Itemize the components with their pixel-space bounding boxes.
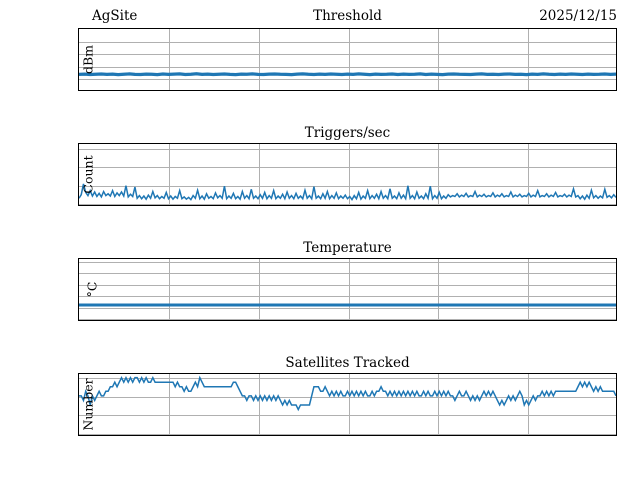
ylabel-temperature: °C [85,249,100,329]
gridline-horizontal [79,42,616,43]
panel-satellites: Satellites Tracked0481204812162024Number [78,0,617,480]
ytick-mark [78,415,79,416]
gridline-vertical [259,29,260,90]
xtick-mark [438,320,439,321]
gridline-vertical [169,259,170,320]
gridline-vertical [438,259,439,320]
ytick-mark [78,79,79,80]
gridline-horizontal [79,415,616,416]
xtick-mark [258,435,259,436]
xtick-mark [348,205,349,206]
gridline-horizontal [79,434,616,435]
site-label: AgSite [92,7,137,25]
ytick-mark [78,66,79,67]
plot-area-triggers: 0400080001200004812162024 [78,143,617,206]
ytick-mark [78,54,79,55]
ytick-mark [78,273,79,274]
ytick-mark [78,296,79,297]
series-layer-satellites [79,374,616,435]
ytick-mark [78,284,79,285]
gridline-horizontal [79,186,616,187]
series-layer-triggers [79,144,616,205]
xtick-mark [348,90,349,91]
xtick-mark [258,320,259,321]
ytick-mark [78,167,79,168]
ytick-mark [78,148,79,149]
ytick-mark [78,41,79,42]
gridline-horizontal [79,204,616,205]
series-layer-temperature [79,259,616,320]
xtick-mark [168,90,169,91]
gridline-horizontal [79,378,616,379]
gridline-vertical [349,144,350,205]
gridline-vertical [528,144,529,205]
gridline-horizontal [79,54,616,55]
ylabel-triggers: Count [81,134,96,214]
gridline-horizontal [79,397,616,398]
panel-triggers: Triggers/sec0400080001200004812162024Cou… [78,0,617,480]
gridline-horizontal [79,167,616,168]
xtick-mark [168,320,169,321]
gridline-horizontal [79,149,616,150]
xtick-mark [79,435,80,436]
ylabel-threshold: dBm [81,19,96,99]
gridline-horizontal [79,296,616,297]
panel-temperature: Temperature−2002040608004812162024°C [78,0,617,480]
gridline-vertical [349,259,350,320]
xtick-mark [348,320,349,321]
ytick-mark [78,377,79,378]
panel-threshold: −100−90−80−70−60−5004812162024dBm [78,0,617,480]
gridline-vertical [528,259,529,320]
xtick-mark [438,435,439,436]
ytick-mark [78,29,79,30]
gridline-vertical [259,259,260,320]
gridline-vertical [349,374,350,435]
xtick-mark [258,90,259,91]
gridline-vertical [169,144,170,205]
figure-main-title: Threshold [313,7,382,25]
xtick-mark [168,205,169,206]
xtick-mark [79,90,80,91]
plot-area-threshold: −100−90−80−70−60−5004812162024 [78,28,617,91]
gridline-vertical [528,374,529,435]
gridline-horizontal [79,285,616,286]
gridline-vertical [528,29,529,90]
xtick-mark [528,320,529,321]
gridline-vertical [438,374,439,435]
gridline-vertical [259,144,260,205]
panel-title-triggers: Triggers/sec [305,125,390,141]
ytick-mark [78,185,79,186]
xtick-mark [79,320,80,321]
gridline-vertical [438,29,439,90]
xtick-mark [438,205,439,206]
gridline-horizontal [79,308,616,309]
ylabel-satellites: Number [81,364,96,444]
panel-title-satellites: Satellites Tracked [285,355,409,371]
data-series-threshold [79,74,616,75]
telemetry-figure: AgSite Threshold 2025/12/15 −100−90−80−7… [0,0,640,480]
ytick-mark [78,396,79,397]
data-series-satellites [79,378,616,410]
data-series-triggers [79,184,616,200]
date-label: 2025/12/15 [539,7,617,25]
gridline-horizontal [79,273,616,274]
ytick-mark [78,204,79,205]
figure-header: AgSite Threshold 2025/12/15 [78,7,617,25]
gridline-vertical [438,144,439,205]
xtick-mark [348,435,349,436]
xtick-mark [258,205,259,206]
xtick-mark [438,90,439,91]
panel-title-temperature: Temperature [303,240,391,256]
ytick-mark [78,307,79,308]
ytick-mark [78,434,79,435]
gridline-vertical [349,29,350,90]
xtick-mark [79,205,80,206]
gridline-horizontal [79,67,616,68]
series-layer-threshold [79,29,616,90]
gridline-horizontal [79,319,616,320]
gridline-vertical [169,29,170,90]
ytick-mark [78,319,79,320]
xtick-mark [528,435,529,436]
ytick-mark [78,261,79,262]
xtick-mark [528,205,529,206]
plot-area-temperature: −2002040608004812162024 [78,258,617,321]
gridline-vertical [169,374,170,435]
gridline-horizontal [79,79,616,80]
xtick-mark [168,435,169,436]
plot-area-satellites: 0481204812162024 [78,373,617,436]
gridline-vertical [259,374,260,435]
xtick-mark [528,90,529,91]
gridline-horizontal [79,262,616,263]
